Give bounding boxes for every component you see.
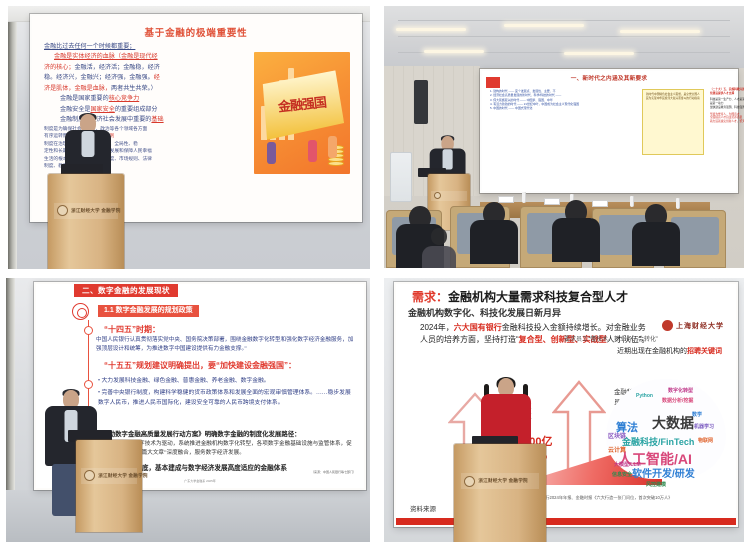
slide4-subtitle: 金融机构数字化、科技化发展日新月异: [408, 306, 561, 319]
slide2-right-title: （二十大）五、实施科教兴国战略、为现代化建设提供人才支撑: [710, 88, 744, 96]
projection-screen-4: 需求：金融机构大量需求科技复合型人才 金融机构数字化、科技化发展日新月异 202…: [394, 282, 738, 527]
timeline-dot: [84, 326, 93, 335]
university-logo: 上海财经大学: [662, 320, 724, 331]
slide3-bullet-0: • 大力发展科技金融、绿色金融、普惠金融、养老金融、数字金融。: [98, 376, 356, 386]
wordcloud-term-5: 区块链: [608, 431, 626, 440]
wordcloud-term-11: 机器学习: [694, 423, 714, 430]
slide-2: 一、新时代之内涵及其新要求 1. 建构的时代 —— 宜个发展点、发展性、主要、不…: [482, 71, 736, 191]
podium-text-1: 浙江财经大学 金融学院: [71, 208, 120, 214]
university-seal-icon: [662, 320, 673, 331]
wordcloud: 算法 大数据 金融科技/FinTech 人工智能/AI 软件开发/研发 区块链 …: [606, 379, 726, 479]
lecture-photo-4: 需求：金融机构大量需求科技复合型人才 金融机构数字化、科技化发展日新月异 202…: [384, 278, 744, 542]
podium-plate-4: 浙江财经大学 金融学院: [461, 473, 538, 489]
slide2-item-4: 5. 中国的时代 —— 中国式现代化: [490, 106, 636, 110]
wall-speaker-icon: [414, 80, 428, 124]
ceiling-2: [384, 6, 744, 68]
photo-collage: 基于金融的极端重要性 金融比过去任何一个时候都重要； 金融是实体经济的血脉（金融…: [0, 0, 751, 547]
wordcloud-term-15: 风控建模: [646, 481, 666, 488]
lecture-photo-1: 基于金融的极端重要性 金融比过去任何一个时候都重要； 金融是实体经济的血脉（金融…: [8, 6, 370, 269]
slide3-item2-label: “十五五”规划建议明确提出，要“加快建设金融强国”：: [104, 360, 296, 371]
wordcloud-term-13: Python: [636, 393, 653, 399]
podium-plate-3: 浙江财经大学 金融学院: [81, 468, 136, 484]
wordcloud-term-8: 信息安全: [612, 471, 632, 478]
university-name: 上海财经大学: [676, 321, 724, 331]
slide2-right-0: 科技是第一生产力、人才是第一资源、创新是第一动力: [710, 98, 744, 106]
person-decor-2: [328, 136, 337, 158]
slide4-title: 需求：金融机构大量需求科技复合型人才: [412, 288, 628, 305]
slide1-line-1: 金融是实体经济的血脉（金融是现代经: [44, 52, 248, 62]
slide1-line-0: 金融比过去任何一个时候都重要；: [44, 42, 248, 52]
panel-bottom-right: 需求：金融机构大量需求科技复合型人才 金融机构数字化、科技化发展日新月异 202…: [376, 274, 751, 547]
podium-univ-4: 浙江财经大学: [478, 478, 507, 483]
timeline-dot: [84, 380, 93, 389]
slide2-right-1: 加快建设教育强国、科技强国、人才强国: [710, 106, 744, 110]
panel-bottom-left: 二、数字金融的发展现状 1.1 数字金融发展的规划政策 “十四五”时期： 中国人…: [0, 274, 376, 547]
audience-member: [632, 204, 680, 268]
slide3-footer: 广东大学金融系 2025年: [184, 479, 216, 483]
slide2-yellow-note: 新时代中国特色社会主义思想，是全党全国人民为实现中华民族伟大复兴而奋斗的行动指南: [642, 89, 704, 155]
slide3-bullet-1: • 完善中央银行制度，构建科学稳健的货币政策体系和发展全面的宏观审慎管理体系。……: [98, 388, 356, 408]
wordcloud-term-1: 大数据: [652, 413, 694, 433]
university-seal-icon: [464, 476, 475, 487]
slide2-column-right: （二十大）五、实施科教兴国战略、为现代化建设提供人才支撑 科技是第一生产力、人才…: [710, 88, 744, 124]
podium-text-3: 浙江财经大学 金融学院: [98, 473, 147, 479]
wall-left: [8, 6, 17, 269]
wordcloud-term-12: 物联网: [698, 437, 713, 444]
wordcloud-term-9: 数据分析/挖掘: [662, 397, 693, 404]
slide3-subsection-title: 1.1 数字金融发展的规划政策: [98, 305, 199, 317]
podium-school-1: 金融学院: [101, 208, 120, 213]
slide4-keyword-caption: 近期出现在金融机构的招聘关键词: [617, 346, 722, 356]
audience-member: [470, 202, 518, 268]
podium-4: 浙江财经大学 金融学院: [454, 444, 546, 542]
panel-top-right: 一、新时代之内涵及其新要求 1. 建构的时代 —— 宜个发展点、发展性、主要、不…: [376, 0, 751, 274]
podium-plate-1: 浙江财经大学 金融学院: [54, 203, 118, 219]
slide1-line-4: 济是肌体，金融是血脉，两者共生共荣。）: [44, 84, 248, 94]
wordcloud-term-4: 软件开发/研发: [632, 465, 695, 480]
wordcloud-term-10: 数学: [692, 411, 702, 418]
podium-school-3: 金融学院: [129, 473, 148, 478]
slide4-title-prefix: 需求：: [412, 290, 448, 304]
search-icon: [72, 303, 89, 320]
slide-4: 需求：金融机构大量需求科技复合型人才 金融机构数字化、科技化发展日新月异 202…: [396, 284, 736, 525]
podium-school-4: 金融学院: [509, 478, 528, 483]
slide1-illustration: 金融强国: [254, 52, 350, 174]
university-seal-icon: [84, 470, 95, 481]
podium-univ-3: 浙江财经大学: [98, 473, 127, 478]
panel-top-left: 基于金融的极端重要性 金融比过去任何一个时候都重要； 金融是实体经济的血脉（金融…: [0, 0, 376, 274]
university-seal-icon: [57, 205, 68, 216]
audience-member: [422, 228, 456, 268]
wordcloud-term-7: 大模型/LLM: [614, 461, 641, 468]
audience-member: [552, 200, 600, 268]
slide4-source-left: 资料来源: [410, 503, 436, 513]
speaker-shirt: [443, 149, 453, 169]
podium-univ-1: 浙江财经大学: [71, 208, 100, 213]
slide2-title: 一、新时代之内涵及其新要求: [482, 74, 736, 82]
slide4-requirement-note: 要求员工“懂技术、熟业务、会转化”: [564, 336, 660, 345]
slide2-right-4: 着力造就拔尖创新人才，聚天下英才而用之: [710, 120, 744, 124]
lecture-photo-3: 二、数字金融的发展现状 1.1 数字金融发展的规划政策 “十四五”时期： 中国人…: [6, 278, 370, 542]
slide1-line-2: 济的核心；金融活，经济活；金融稳，经济: [44, 63, 248, 73]
slide1-line-3: 稳。经济兴，金融兴；经济强，金融强。经: [44, 73, 248, 83]
wordcloud-term-14: 数字化转型: [668, 387, 693, 394]
slide2-column-left: 1. 建构的时代 —— 宜个发展点、发展性、主要、不 2. 经济社会高质量发展的…: [490, 89, 636, 111]
lecture-photo-2: 一、新时代之内涵及其新要求 1. 建构的时代 —— 宜个发展点、发展性、主要、不…: [384, 6, 744, 268]
slide3-action-plan: 《推动数字金融高质量发展行动方案》明确数字金融的制度化发展路径：: [96, 429, 301, 438]
person-decor-3: [267, 142, 276, 164]
projection-screen-2: 一、新时代之内涵及其新要求 1. 建构的时代 —— 宜个发展点、发展性、主要、不…: [480, 69, 738, 193]
slide1-title: 基于金融的极端重要性: [32, 25, 360, 39]
podium-1: 浙江财经大学 金融学院: [48, 174, 124, 269]
slide3-item1-label: “十四五”时期：: [104, 324, 160, 335]
slide3-section-title: 二、数字金融的发展现状: [74, 284, 178, 297]
person-decor-1: [308, 140, 317, 162]
podium-3: 浙江财经大学 金融学院: [76, 440, 142, 532]
wordcloud-term-6: 云计算: [608, 445, 626, 454]
slide1-line-5: 金融是国家重要的核心竞争力: [44, 94, 248, 104]
podium-text-4: 浙江财经大学 金融学院: [478, 478, 527, 484]
slide4-bottom-bar: [396, 518, 736, 525]
wordcloud-term-2: 金融科技/FinTech: [622, 435, 694, 448]
slide3-item1-text: 中国人民银行认真贯彻落实党中央、国务院决策部署，围绕金融数字化转型和强化数字经济…: [96, 336, 356, 354]
slide3-source: （来源：中国人民银行等七部门）: [311, 470, 356, 474]
slide4-title-main: 金融机构大量需求科技复合型人才: [448, 290, 628, 304]
audience-seating: [384, 190, 744, 268]
speaker-shirt: [82, 131, 95, 157]
